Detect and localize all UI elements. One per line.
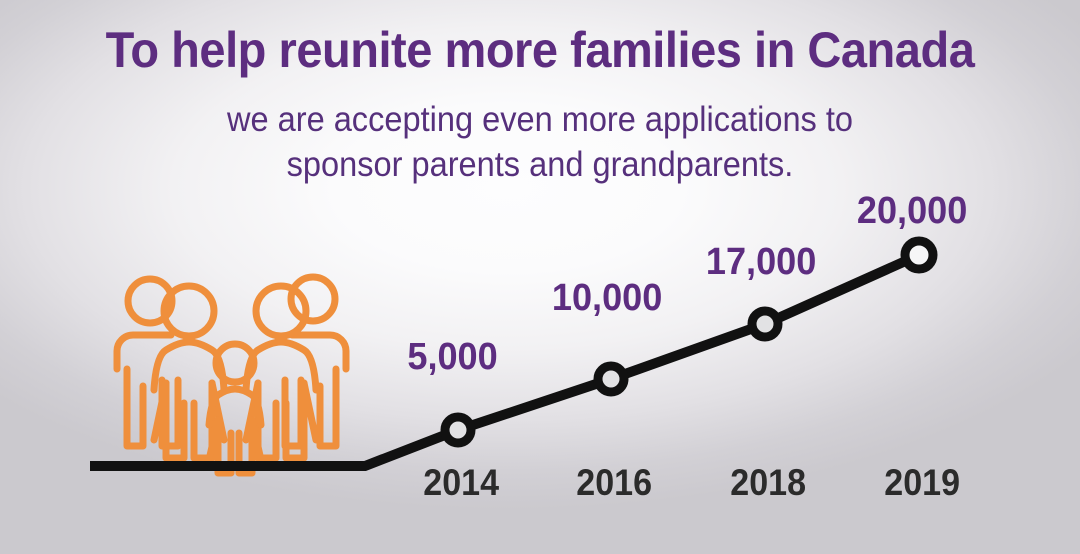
value-label-2018: 17,000 bbox=[706, 241, 816, 284]
family-group-icon bbox=[117, 277, 346, 473]
data-point-2018[interactable] bbox=[752, 311, 778, 337]
year-label-2014: 2014 bbox=[423, 462, 499, 504]
data-point-2019[interactable] bbox=[905, 241, 933, 269]
year-label-2018: 2018 bbox=[730, 462, 806, 504]
year-label-2016: 2016 bbox=[576, 462, 652, 504]
value-label-2016: 10,000 bbox=[552, 277, 662, 320]
value-label-2019: 20,000 bbox=[857, 190, 967, 233]
infographic-canvas: To help reunite more families in Canada … bbox=[0, 0, 1080, 554]
year-label-2019: 2019 bbox=[884, 462, 960, 504]
data-point-2016[interactable] bbox=[598, 366, 624, 392]
value-label-2014: 5,000 bbox=[407, 336, 497, 379]
data-point-2014[interactable] bbox=[445, 417, 471, 443]
